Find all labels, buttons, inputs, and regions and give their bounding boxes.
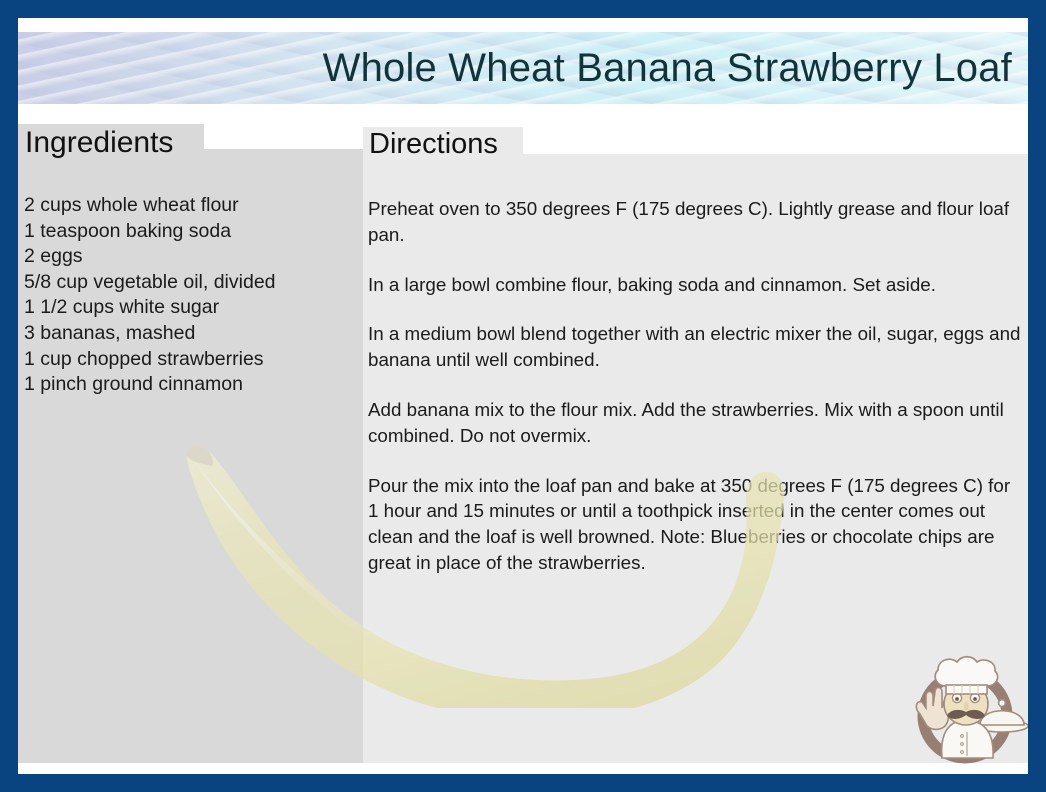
direction-step: Add banana mix to the flour mix. Add the… [368,397,1024,449]
list-item: 3 bananas, mashed [24,321,364,347]
slide-canvas: Whole Wheat Banana Strawberry Loaf Ingre… [18,18,1028,774]
list-item: 1 cup chopped strawberries [24,347,364,373]
recipe-slide: Whole Wheat Banana Strawberry Loaf Ingre… [0,0,1046,792]
directions-body: Preheat oven to 350 degrees F (175 degre… [368,196,1024,576]
ingredients-list: 2 cups whole wheat flour 1 teaspoon baki… [24,193,364,398]
list-item: 1 pinch ground cinnamon [24,372,364,398]
title-banner: Whole Wheat Banana Strawberry Loaf [18,32,1028,104]
direction-step: Pour the mix into the loaf pan and bake … [368,473,1024,576]
page-title: Whole Wheat Banana Strawberry Loaf [323,48,1012,88]
list-item: 1 teaspoon baking soda [24,219,364,245]
list-item: 2 cups whole wheat flour [24,193,364,219]
direction-step: Preheat oven to 350 degrees F (175 degre… [368,196,1024,248]
list-item: 5/8 cup vegetable oil, divided [24,270,364,296]
directions-heading: Directions [369,129,498,161]
direction-step: In a medium bowl blend together with an … [368,321,1024,373]
direction-step: In a large bowl combine flour, baking so… [368,272,1024,298]
list-item: 2 eggs [24,244,364,270]
ingredients-heading: Ingredients [25,126,173,159]
chef-logo-icon [902,646,1028,772]
list-item: 1 1/2 cups white sugar [24,295,364,321]
